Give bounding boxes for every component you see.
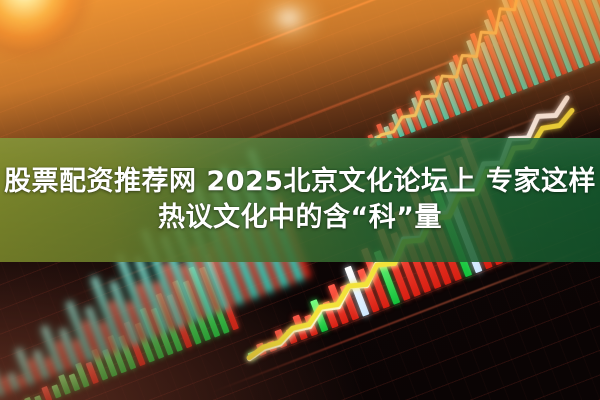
banner-image: 股票配资推荐网 2025北京文化论坛上 专家这样 热议文化中的含“科”量 [0,0,600,400]
title-line-2: 热议文化中的含“科”量 [158,203,442,233]
title-line-1: 股票配资推荐网 2025北京文化论坛上 专家这样 [4,167,596,197]
title-block: 股票配资推荐网 2025北京文化论坛上 专家这样 热议文化中的含“科”量 [0,138,600,262]
